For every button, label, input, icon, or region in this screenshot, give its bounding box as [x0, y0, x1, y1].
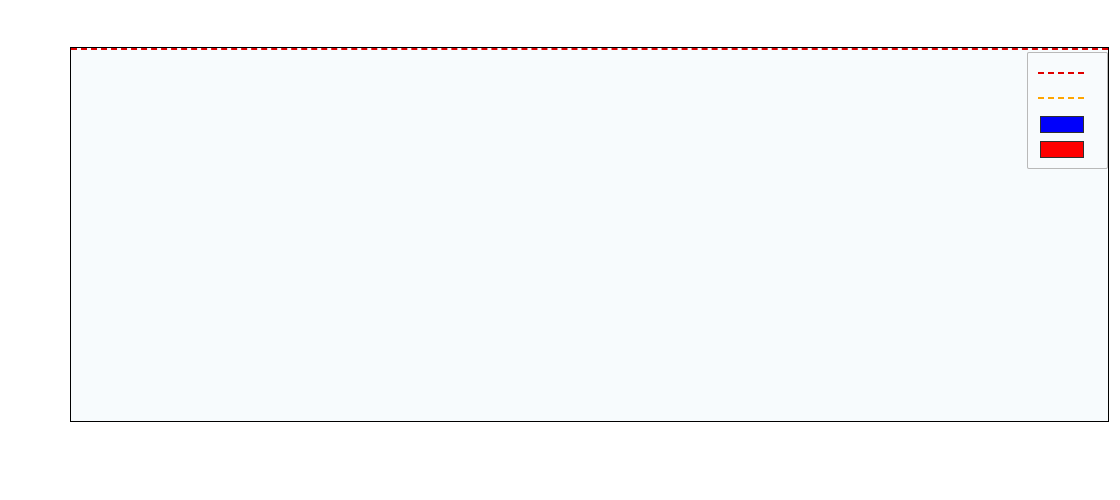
y-axis — [0, 47, 70, 422]
legend-item-trend — [1038, 85, 1096, 110]
median-dash-icon — [1038, 65, 1084, 81]
plot-area — [70, 47, 1109, 422]
chart-page — [0, 0, 1120, 500]
blue-swatch-icon — [1038, 115, 1084, 131]
trend-line — [71, 48, 1110, 108]
legend-item-below — [1038, 135, 1096, 160]
trend-dash-icon — [1038, 90, 1084, 106]
legend-item-above — [1038, 110, 1096, 135]
red-swatch-icon — [1038, 140, 1084, 156]
legend — [1027, 52, 1108, 169]
legend-item-median — [1038, 60, 1096, 85]
x-axis — [70, 422, 1109, 500]
